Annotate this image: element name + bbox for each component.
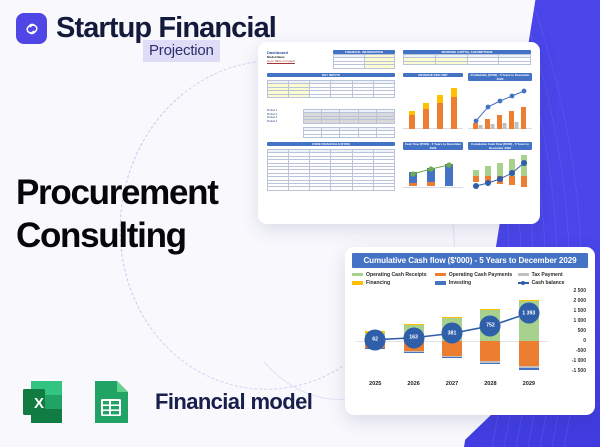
- chart-y-tick: 2 000: [573, 298, 586, 304]
- chart-data-label: 163: [403, 327, 424, 348]
- svg-text:X: X: [34, 395, 44, 412]
- chart-y-tick: 1 500: [573, 308, 586, 314]
- chart-y-tick: -1 500: [572, 368, 586, 374]
- chart-bar-segment: [442, 357, 462, 358]
- chart-bar-segment: [519, 300, 539, 301]
- legend-label: Tax Payment: [532, 272, 563, 278]
- chart-bar-segment: [519, 341, 539, 366]
- chart-y-tick: -1 000: [572, 358, 586, 364]
- chart-title: Cumulative Cash flow ($'000) - 5 Years t…: [352, 253, 588, 268]
- legend-swatch-icon: [352, 281, 363, 284]
- chart-y-tick: -500: [576, 348, 586, 354]
- legend-label: Investing: [449, 280, 471, 286]
- dashboard-section-header: CORE FINANCIALS ($'000): [267, 142, 395, 146]
- chart-bar-segment: [480, 309, 500, 310]
- legend-label: Financing: [366, 280, 390, 286]
- chart-data-label: 381: [442, 323, 463, 344]
- dashboard-toc-link[interactable]: Go to Table of Content: [267, 59, 295, 63]
- chart-plot-area: 621633817521 393: [356, 291, 548, 371]
- chart-bar-segment: [480, 363, 500, 364]
- page-title-line-1: Procurement: [16, 172, 286, 215]
- chart-data-label: 752: [480, 315, 501, 336]
- legend-item-investing[interactable]: Investing: [435, 280, 518, 286]
- chart-plot: 621633817521 393 2 5002 0001 5001 000500…: [352, 291, 588, 387]
- chart-x-tick: 2025: [356, 381, 394, 387]
- legend-swatch-icon: [435, 273, 446, 276]
- chart-x-axis: 20252026202720282029: [356, 381, 548, 387]
- dashboard-table: [267, 80, 395, 98]
- legend-label: Operating Cash Receipts: [366, 272, 427, 278]
- brand-logo-icon: [16, 13, 47, 44]
- dashboard-preview-content: Dashboard Model Name Go to Table of Cont…: [263, 47, 535, 224]
- dashboard-mini-chart-profitability: [468, 81, 532, 135]
- dashboard-table: [403, 54, 531, 65]
- page-title-line-2: Consulting: [16, 215, 286, 258]
- legend-line-icon: [518, 282, 529, 284]
- brand-badge: Projection: [143, 40, 220, 62]
- chart-x-tick: 2029: [510, 381, 548, 387]
- chart-x-tick: 2026: [394, 381, 432, 387]
- dashboard-chart-header: REVENUE PER UNIT: [403, 73, 463, 77]
- dashboard-chart-header: Cumulative Cash flow ($'000) - 5 Years t…: [468, 142, 532, 150]
- dashboard-mini-chart-cumulative: [468, 150, 532, 196]
- chart-bar-segment: [519, 368, 539, 369]
- dashboard-chart-header: Profitability ($'000) - 5 Years to Decem…: [468, 73, 532, 81]
- dashboard-row-label: Product 4: [267, 120, 301, 124]
- chart-y-tick: 0: [583, 338, 586, 344]
- financial-model-label: Financial model: [155, 389, 312, 415]
- dashboard-chart-header: Cash flow ($'000) - 5 Years to December …: [403, 142, 463, 150]
- legend-swatch-icon: [352, 273, 363, 276]
- legend-label: Cash balance: [532, 280, 565, 286]
- dashboard-preview-card[interactable]: Dashboard Model Name Go to Table of Cont…: [258, 42, 540, 224]
- page-title: Procurement Consulting: [16, 172, 286, 257]
- chart-x-tick: 2027: [433, 381, 471, 387]
- chart-y-axis: 2 5002 0001 5001 0005000-500-1 000-1 500: [550, 287, 588, 375]
- chart-bar-segment: [404, 324, 424, 325]
- chart-data-label: 1 393: [518, 303, 539, 324]
- dashboard-section-header: KEY INPUTS: [267, 73, 395, 77]
- chart-legend: Operating Cash Receipts Operating Cash P…: [352, 272, 588, 287]
- legend-item-operating-cash-payments[interactable]: Operating Cash Payments: [435, 272, 518, 278]
- chart-y-tick: 1 000: [573, 318, 586, 324]
- chart-x-tick: 2028: [471, 381, 509, 387]
- dashboard-financials-table: [267, 149, 395, 191]
- chart-bar-segment: [404, 352, 424, 353]
- poster-canvas: Startup Financial Projection Procurement…: [0, 0, 600, 447]
- dashboard-table: [333, 54, 395, 69]
- chart-bar-segment: [480, 341, 500, 361]
- link-e-icon: [23, 20, 41, 38]
- legend-item-financing[interactable]: Financing: [352, 280, 435, 286]
- legend-swatch-icon: [435, 281, 446, 284]
- microsoft-excel-icon: X: [17, 375, 71, 429]
- legend-label: Operating Cash Payments: [449, 272, 512, 278]
- dashboard-mini-chart-cashflow: [403, 150, 463, 196]
- footer-row: X Financial model: [17, 375, 312, 429]
- legend-swatch-icon: [518, 273, 529, 276]
- cumulative-cash-flow-chart-card[interactable]: Cumulative Cash flow ($'000) - 5 Years t…: [345, 247, 595, 415]
- legend-item-tax-payment[interactable]: Tax Payment: [518, 272, 588, 278]
- google-sheets-icon: [84, 375, 138, 429]
- chart-bar-segment: [442, 317, 462, 318]
- chart-y-tick: 2 500: [573, 288, 586, 294]
- legend-item-cash-balance[interactable]: Cash balance: [518, 280, 588, 286]
- legend-item-operating-cash-receipts[interactable]: Operating Cash Receipts: [352, 272, 435, 278]
- dashboard-table: [303, 109, 395, 124]
- dashboard-mini-chart-revenue: [403, 81, 463, 135]
- dashboard-table: [303, 127, 395, 138]
- chart-y-tick: 500: [578, 328, 586, 334]
- chart-data-label: 62: [365, 329, 386, 350]
